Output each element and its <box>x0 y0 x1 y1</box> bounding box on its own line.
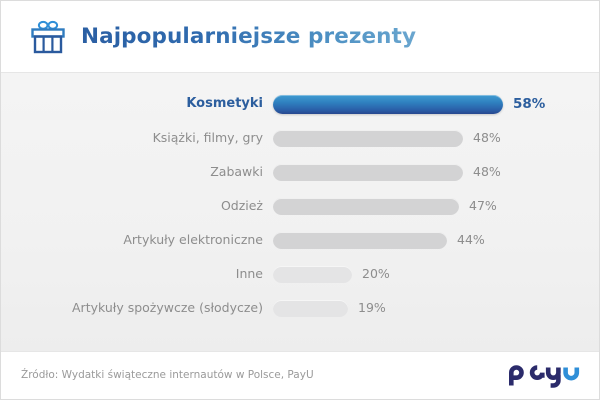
bar <box>273 232 447 249</box>
page-title: Najpopularniejsze prezenty <box>81 24 416 49</box>
bar-track <box>273 300 348 317</box>
chart-row: Inne20% <box>1 257 600 291</box>
bar-track <box>273 95 503 112</box>
bar-value: 44% <box>457 223 485 257</box>
bar-label: Odzież <box>21 189 263 223</box>
chart-row: Odzież47% <box>1 189 600 223</box>
payu-logo <box>507 364 581 388</box>
chart-row: Artykuły elektroniczne44% <box>1 223 600 257</box>
bar <box>273 95 503 114</box>
bar-track <box>273 198 459 215</box>
bar-label: Książki, filmy, gry <box>21 121 263 155</box>
bar <box>273 300 348 317</box>
bar-track <box>273 232 447 249</box>
chart-row: Książki, filmy, gry48% <box>1 121 600 155</box>
bar-value: 48% <box>473 121 501 155</box>
gift-box-icon <box>28 18 68 58</box>
bar-track <box>273 266 352 283</box>
bar-label: Inne <box>21 257 263 291</box>
bar-value: 47% <box>469 189 497 223</box>
chart-row: Artykuły spożywcze (słodycze)19% <box>1 291 600 325</box>
card-header: Najpopularniejsze prezenty <box>1 1 600 73</box>
bar <box>273 130 463 147</box>
bar-value: 48% <box>473 155 501 189</box>
bar-label: Artykuły spożywcze (słodycze) <box>21 291 263 325</box>
infographic-card: Najpopularniejsze prezenty Kosmetyki58%K… <box>0 0 600 400</box>
bar <box>273 266 352 283</box>
bar-track <box>273 164 463 181</box>
bar <box>273 198 459 215</box>
bar-value: 20% <box>362 257 390 291</box>
bar-label: Kosmetyki <box>21 87 263 121</box>
source-note: Źródło: Wydatki świąteczne internautów w… <box>21 369 314 381</box>
bar-label: Zabawki <box>21 155 263 189</box>
bar-chart: Kosmetyki58%Książki, filmy, gry48%Zabawk… <box>1 73 600 351</box>
card-footer: Źródło: Wydatki świąteczne internautów w… <box>1 351 600 399</box>
bar <box>273 164 463 181</box>
bar-track <box>273 130 463 147</box>
bar-label: Artykuły elektroniczne <box>21 223 263 257</box>
bar-value: 19% <box>358 291 386 325</box>
bar-value: 58% <box>513 87 545 121</box>
chart-row: Kosmetyki58% <box>1 87 600 121</box>
chart-row: Zabawki48% <box>1 155 600 189</box>
